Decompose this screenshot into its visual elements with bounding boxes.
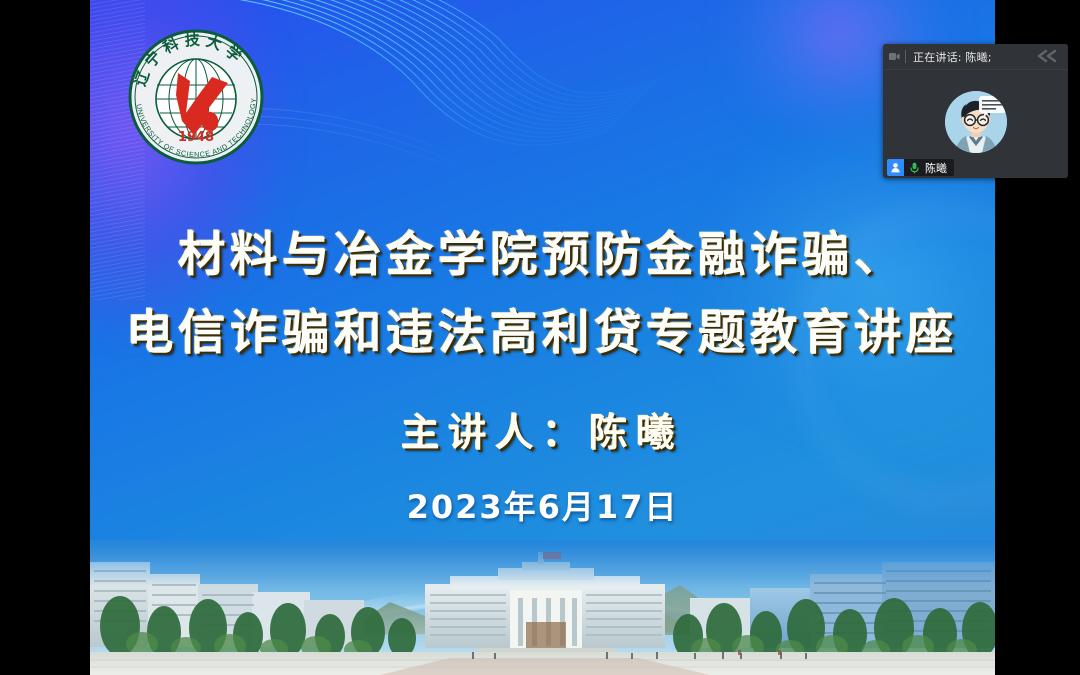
campus-panorama-photo: [90, 540, 995, 675]
participant-name-tag: 陈曦: [887, 159, 954, 176]
header-divider: [905, 50, 906, 63]
participant-name-label: 陈曦: [925, 160, 947, 176]
video-thumbnail-icon: [883, 44, 905, 69]
slide-date-line: 2023年6月17日: [90, 482, 995, 528]
video-panel-header[interactable]: 正在讲话: 陈曦;: [883, 44, 1068, 70]
video-panel-body[interactable]: 陈曦: [883, 70, 1068, 178]
slide-speaker-line: 主讲人：陈曦: [90, 402, 995, 457]
participant-avatar: [945, 91, 1007, 153]
letterbox-bar-left: [0, 0, 90, 675]
seal-founded-year: 1948: [178, 130, 214, 145]
speaking-status-label: 正在讲话: 陈曦;: [913, 49, 992, 65]
slide-title-line-2: 电信诈骗和违法高利贷专题教育讲座: [90, 310, 995, 357]
video-thumbnail-panel[interactable]: 正在讲话: 陈曦;: [883, 44, 1068, 178]
presentation-slide: 辽 宁 科 技 大 学 UNIVERSITY OF SCIENCE AND TE…: [90, 0, 995, 675]
university-seal-logo: 辽 宁 科 技 大 学 UNIVERSITY OF SCIENCE AND TE…: [116, 17, 276, 177]
microphone-icon: [907, 159, 922, 176]
person-icon: [887, 159, 904, 176]
screen-root: 辽 宁 科 技 大 学 UNIVERSITY OF SCIENCE AND TE…: [0, 0, 1080, 675]
chevron-collapse-icon[interactable]: [1036, 49, 1062, 68]
slide-title-line-1: 材料与冶金学院预防金融诈骗、: [90, 232, 995, 279]
